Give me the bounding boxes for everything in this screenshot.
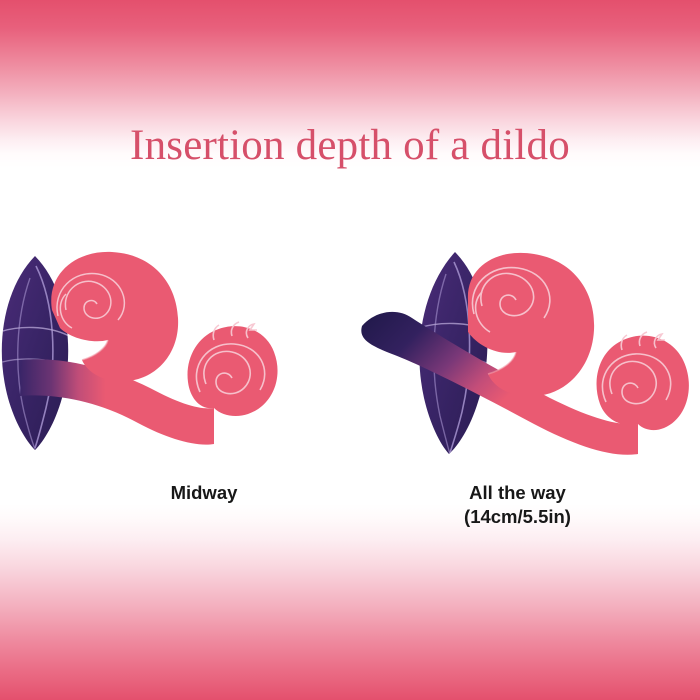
hand-lower [188,322,278,416]
all-the-way-illustration [350,248,700,458]
infographic-canvas: Insertion depth of a dildo [0,0,700,700]
midway-illustration [0,248,350,458]
page-title: Insertion depth of a dildo [0,123,700,169]
caption-midway-label: Midway [171,482,238,503]
caption-all-the-way: All the way (14cm/5.5in) [330,481,700,530]
illustration-row [0,248,700,458]
hand-upper [51,252,178,381]
hand-lower [597,332,689,430]
page-title-container: Insertion depth of a dildo [0,123,700,169]
caption-all-the-way-measurement: (14cm/5.5in) [330,505,700,529]
caption-all-the-way-label: All the way [469,482,566,503]
